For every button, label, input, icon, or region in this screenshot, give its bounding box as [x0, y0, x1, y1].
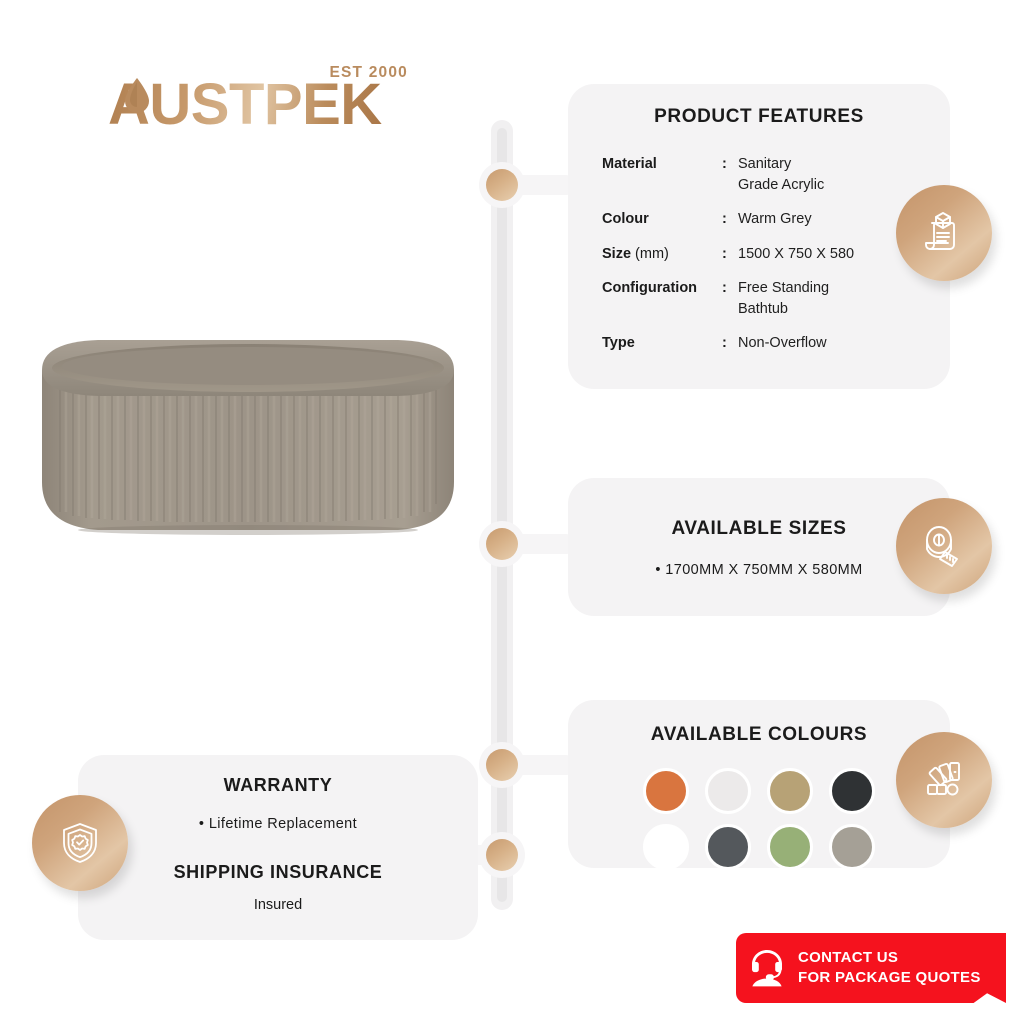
contact-us-banner[interactable]: CONTACT US FOR PACKAGE QUOTES: [736, 933, 1006, 1003]
feature-label: Material: [602, 154, 722, 195]
feature-value: Free Standing Bathtub: [738, 278, 829, 319]
warranty-title: WARRANTY: [78, 775, 478, 796]
feature-value: Non-Overflow: [738, 333, 827, 354]
measuring-tape-badge: [896, 498, 992, 594]
feature-value: 1500 X 750 X 580: [738, 244, 854, 265]
colour-swatch-khaki-tan[interactable]: [767, 768, 813, 814]
feature-colon: :: [722, 244, 738, 265]
feature-row-configuration: Configuration : Free Standing Bathtub: [602, 278, 950, 319]
warranty-item: • Lifetime Replacement: [78, 816, 478, 832]
feature-label: Configuration: [602, 278, 722, 319]
shipping-insurance-value: Insured: [78, 897, 478, 913]
timeline-node-features: [479, 162, 525, 208]
available-colours-panel: AVAILABLE COLOURS: [568, 700, 950, 868]
timeline-node-colours: [479, 742, 525, 788]
available-sizes-panel: AVAILABLE SIZES • 1700MM X 750MM X 580MM: [568, 478, 950, 616]
feature-colon: :: [722, 333, 738, 354]
bathtub-illustration: [38, 336, 458, 536]
warranty-panel: WARRANTY • Lifetime Replacement SHIPPING…: [78, 755, 478, 940]
feature-label: Type: [602, 333, 722, 354]
product-spec-badge: [896, 185, 992, 281]
shield-guarantee-icon: [58, 821, 102, 865]
water-drop-icon: [124, 78, 150, 112]
colour-swatch-fan-icon: [921, 757, 967, 803]
shipping-insurance-title: SHIPPING INSURANCE: [78, 862, 478, 883]
infographic-page: EST 2000 AUSTPEK: [0, 0, 1024, 1024]
colour-fan-badge: [896, 732, 992, 828]
timeline-node-sizes: [479, 521, 525, 567]
available-colours-title: AVAILABLE COLOURS: [568, 724, 950, 746]
colour-swatch-white[interactable]: [643, 824, 689, 870]
clipboard-product-spec-icon: [921, 210, 967, 256]
contact-us-line1: CONTACT US: [798, 948, 981, 968]
available-sizes-title: AVAILABLE SIZES: [568, 518, 950, 540]
product-features-panel: PRODUCT FEATURES Material : Sanitary Gra…: [568, 84, 950, 389]
feature-colon: :: [722, 154, 738, 195]
measuring-tape-icon: [921, 523, 967, 569]
feature-label: Size (mm): [602, 244, 722, 265]
colour-swatch-off-white[interactable]: [705, 768, 751, 814]
feature-colon: :: [722, 278, 738, 319]
feature-value: Sanitary Grade Acrylic: [738, 154, 824, 195]
colour-swatch-warm-grey[interactable]: [829, 824, 875, 870]
headset-support-agent-icon: [736, 947, 798, 989]
timeline-node-warranty: [479, 832, 525, 878]
brand-logo: EST 2000 AUSTPEK: [108, 62, 408, 148]
product-features-list: Material : Sanitary Grade Acrylic Colour…: [602, 154, 950, 354]
colour-swatch-slate-grey[interactable]: [705, 824, 751, 870]
feature-colon: :: [722, 209, 738, 230]
colour-swatch-grid: [568, 768, 950, 870]
size-option: • 1700MM X 750MM X 580MM: [568, 562, 950, 578]
feature-row-type: Type : Non-Overflow: [602, 333, 950, 354]
product-image: [38, 336, 458, 536]
contact-us-text: CONTACT US FOR PACKAGE QUOTES: [798, 948, 981, 989]
feature-label: Colour: [602, 209, 722, 230]
colour-swatch-sage-green[interactable]: [767, 824, 813, 870]
product-features-title: PRODUCT FEATURES: [568, 106, 950, 128]
contact-us-line2: FOR PACKAGE QUOTES: [798, 968, 981, 988]
colour-swatch-terracotta[interactable]: [643, 768, 689, 814]
colour-swatch-charcoal-black[interactable]: [829, 768, 875, 814]
warranty-shield-badge: [32, 795, 128, 891]
feature-value: Warm Grey: [738, 209, 812, 230]
feature-row-material: Material : Sanitary Grade Acrylic: [602, 154, 950, 195]
